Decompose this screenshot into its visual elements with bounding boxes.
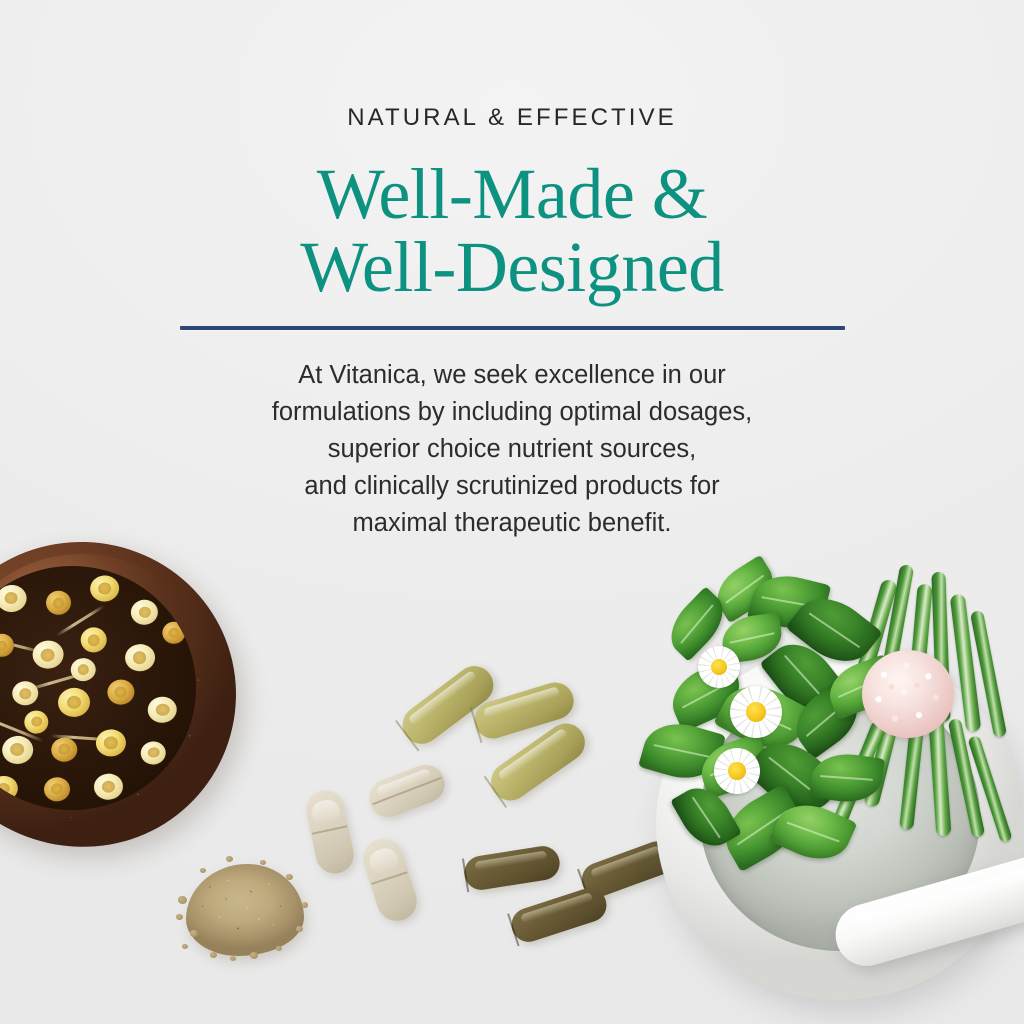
page-title: Well-Made & Well-Designed <box>0 130 1024 305</box>
cream-tablet <box>358 834 422 926</box>
hero-text-block: NATURAL & EFFECTIVE Well-Made & Well-Des… <box>0 0 1024 305</box>
chamomile-bowl <box>0 542 236 847</box>
mortar-and-pestle <box>656 648 1024 1000</box>
headline-line-1: Well-Made & <box>0 158 1024 231</box>
daisy-flower <box>714 748 760 794</box>
brown-capsule <box>462 844 562 893</box>
daisy-flower <box>698 646 740 688</box>
brown-capsule <box>507 884 611 947</box>
headline-line-2: Well-Designed <box>0 231 1024 304</box>
allium-flower <box>862 650 954 738</box>
eyebrow-label: NATURAL & EFFECTIVE <box>0 0 1024 130</box>
fresh-herb-arrangement <box>626 558 1024 1000</box>
herbal-powder-pile <box>176 856 318 968</box>
daisy-flower <box>730 686 782 738</box>
marketing-hero-image: NATURAL & EFFECTIVE Well-Made & Well-Des… <box>0 0 1024 1024</box>
cream-tablet <box>364 759 450 822</box>
